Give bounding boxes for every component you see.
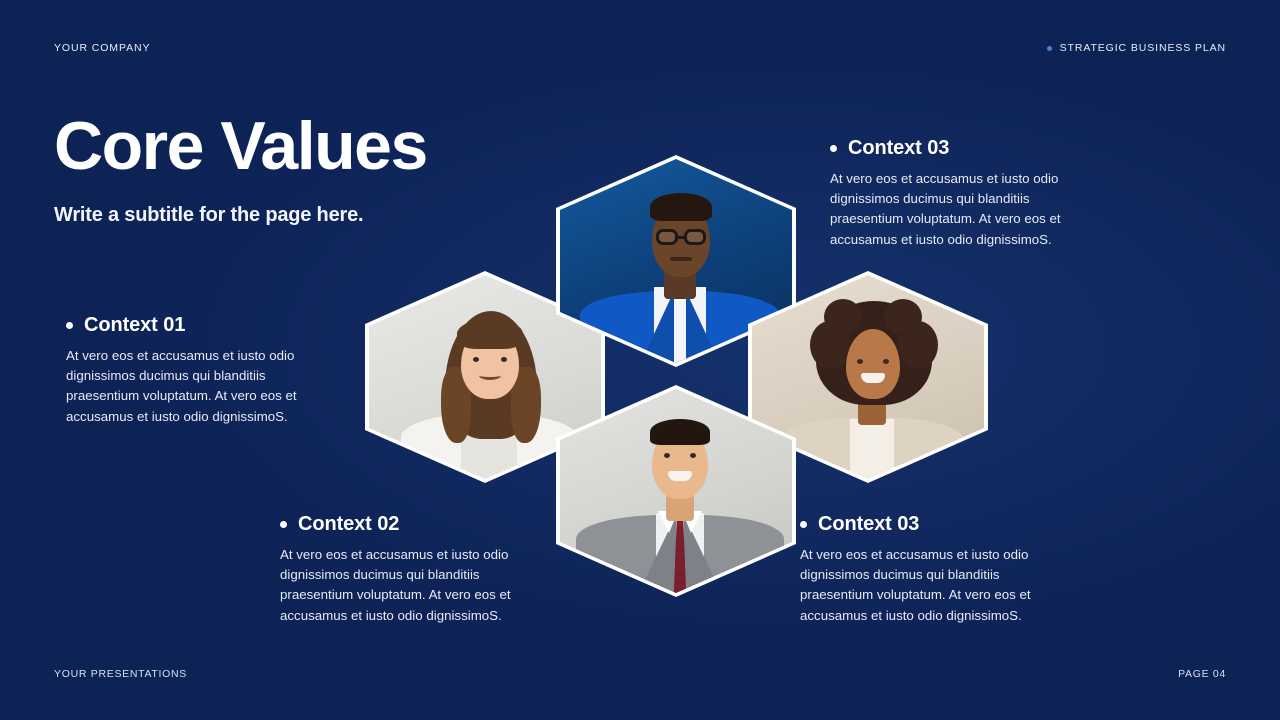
bullet-dot-icon	[66, 322, 73, 329]
bullet-dot-icon	[830, 145, 837, 152]
footer-left-label: YOUR PRESENTATIONS	[54, 668, 187, 680]
title-block: Core Values Write a subtitle for the pag…	[54, 112, 427, 227]
context-block-3: Context 03 At vero eos et accusamus et i…	[830, 137, 1098, 250]
context-block-2: Context 02 At vero eos et accusamus et i…	[280, 513, 548, 626]
context-1-header: Context 01	[66, 314, 336, 337]
page-title: Core Values	[54, 112, 427, 180]
context-2-body: At vero eos et accusamus et iusto odio d…	[280, 545, 548, 626]
context-1-title: Context 01	[84, 314, 185, 337]
bullet-dot-icon	[800, 521, 807, 528]
plan-label-group: STRATEGIC BUSINESS PLAN	[1047, 42, 1226, 54]
context-3-header: Context 03	[830, 137, 1098, 160]
page-number: PAGE 04	[1178, 668, 1226, 680]
company-label: YOUR COMPANY	[54, 42, 150, 54]
context-2-title: Context 02	[298, 513, 399, 536]
context-4-body: At vero eos et accusamus et iusto odio d…	[800, 545, 1068, 626]
context-1-body: At vero eos et accusamus et iusto odio d…	[66, 346, 336, 427]
slide-header: YOUR COMPANY STRATEGIC BUSINESS PLAN	[54, 42, 1226, 54]
context-3-title: Context 03	[848, 137, 949, 160]
context-4-header: Context 03	[800, 513, 1068, 536]
context-3-body: At vero eos et accusamus et iusto odio d…	[830, 169, 1098, 250]
context-block-1: Context 01 At vero eos et accusamus et i…	[66, 314, 336, 427]
context-block-4: Context 03 At vero eos et accusamus et i…	[800, 513, 1068, 626]
dot-icon	[1047, 46, 1052, 51]
bullet-dot-icon	[280, 521, 287, 528]
page-subtitle: Write a subtitle for the page here.	[54, 204, 427, 227]
plan-label: STRATEGIC BUSINESS PLAN	[1060, 42, 1226, 54]
context-4-title: Context 03	[818, 513, 919, 536]
slide-footer: YOUR PRESENTATIONS PAGE 04	[54, 668, 1226, 680]
context-2-header: Context 02	[280, 513, 548, 536]
